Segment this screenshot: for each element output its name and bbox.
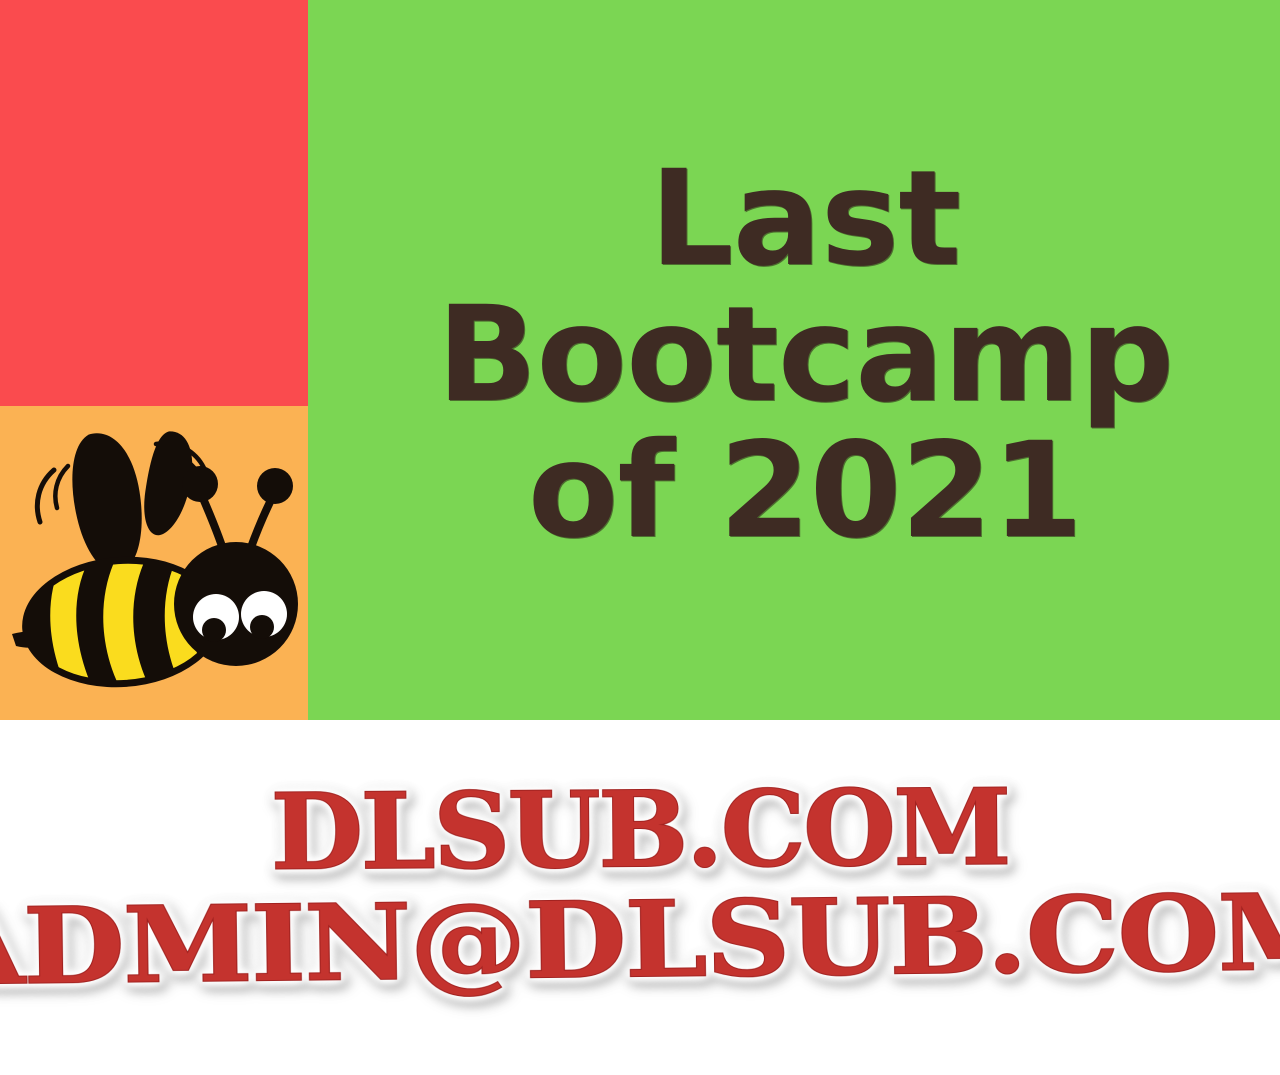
antenna-right-ball (257, 468, 293, 504)
red-corner-panel (0, 0, 308, 406)
watermark-email-address: ADMIN@DLSUB.COM (0, 870, 1280, 1009)
cartoon-bee-illustration (10, 404, 310, 714)
headline-block: Last Bootcamp of 2021 (330, 0, 1280, 720)
bee-svg (10, 404, 310, 714)
bee-antennae (182, 466, 293, 552)
poster-image: Last Bootcamp of 2021 DLSUB.COM ADMIN@DL… (0, 0, 1280, 1075)
bee-eye-left-pupil (202, 618, 226, 642)
bootcamp-announcement-card: Last Bootcamp of 2021 (0, 0, 1280, 720)
bee-wing-left (61, 427, 156, 579)
antenna-left-stem (202, 496, 224, 552)
bee-eye-right-pupil (250, 615, 274, 639)
motion-arc-icon (37, 466, 68, 522)
antenna-left-ball (182, 466, 218, 502)
headline-line-1: Last (650, 152, 961, 288)
antenna-right-stem (250, 498, 272, 550)
headline-line-3: of 2021 (528, 424, 1082, 560)
headline-line-2: Bootcamp (437, 288, 1173, 424)
watermark-band: DLSUB.COM ADMIN@DLSUB.COM (0, 720, 1280, 1075)
